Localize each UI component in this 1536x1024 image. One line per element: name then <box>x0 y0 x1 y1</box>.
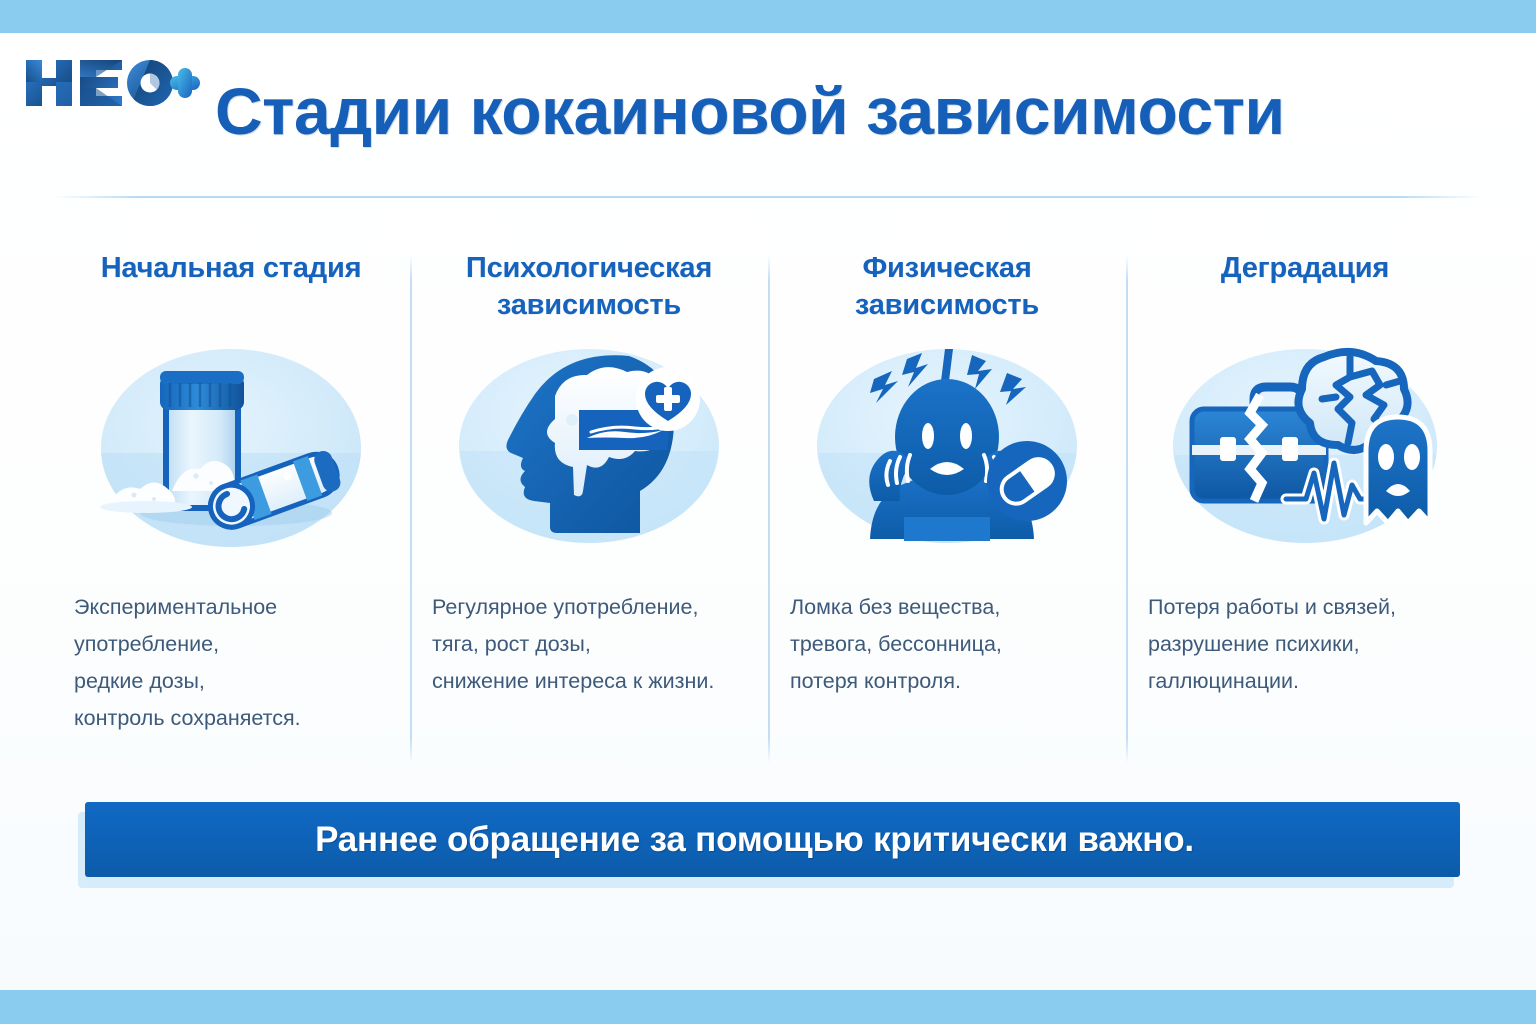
stage-4-line: галлюцинации. <box>1148 663 1470 700</box>
stage-4-heading: Деградация <box>1221 250 1389 334</box>
stages-row: Начальная стадия <box>52 250 1484 770</box>
brand-logo <box>22 52 202 114</box>
bottom-accent-bar <box>0 990 1536 1024</box>
banner-text: Раннее обращение за помощью критически в… <box>315 820 1194 860</box>
stage-2-heading: Психологическая зависимость <box>424 250 754 334</box>
stage-2-description: Регулярное употребление, тяга, рост дозы… <box>424 589 754 700</box>
title-divider <box>52 196 1484 198</box>
stage-column-4: Деградация <box>1126 250 1484 770</box>
stage-1-line: употребление, <box>74 626 396 663</box>
stage-4-line: разрушение психики, <box>1148 626 1470 663</box>
stage-4-line: Потеря работы и связей, <box>1148 589 1470 626</box>
stage-3-description: Ломка без вещества, тревога, бессонница,… <box>782 589 1112 700</box>
logo-letter-h <box>26 60 72 106</box>
stage-2-line: снижение интереса к жизни. <box>432 663 754 700</box>
top-accent-bar <box>0 0 1536 33</box>
stage-1-description: Экспериментальное употребление, редкие д… <box>66 589 396 737</box>
pill-jar-powder-rolled-note-icon <box>66 336 396 561</box>
stage-4-description: Потеря работы и связей, разрушение психи… <box>1140 589 1470 700</box>
logo-plus-icon <box>170 68 200 98</box>
stage-2-line: Регулярное употребление, <box>432 589 754 626</box>
stage-3-line: потеря контроля. <box>790 663 1112 700</box>
stage-column-1: Начальная стадия <box>52 250 410 770</box>
stage-column-3: Физическая зависимость <box>768 250 1126 770</box>
headache-person-lightning-pill-icon <box>782 336 1112 561</box>
stage-3-heading: Физическая зависимость <box>782 250 1112 334</box>
broken-briefcase-brain-ecg-ghost-icon <box>1140 336 1470 561</box>
stage-1-line: редкие дозы, <box>74 663 396 700</box>
logo-letter-e <box>80 60 122 106</box>
stage-1-line: контроль сохраняется. <box>74 700 396 737</box>
call-to-action-banner: Раннее обращение за помощью критически в… <box>85 802 1460 877</box>
stage-3-line: Ломка без вещества, <box>790 589 1112 626</box>
head-brain-powder-line-heart-plus-icon <box>424 336 754 561</box>
stage-column-2: Психологическая зависимость <box>410 250 768 770</box>
stage-2-line: тяга, рост дозы, <box>432 626 754 663</box>
logo-letter-o <box>127 60 173 106</box>
stage-1-heading: Начальная стадия <box>101 250 362 334</box>
stage-3-line: тревога, бессонница, <box>790 626 1112 663</box>
page-title: Стадии кокаиновой зависимости <box>215 78 1315 144</box>
stage-1-line: Экспериментальное <box>74 589 396 626</box>
